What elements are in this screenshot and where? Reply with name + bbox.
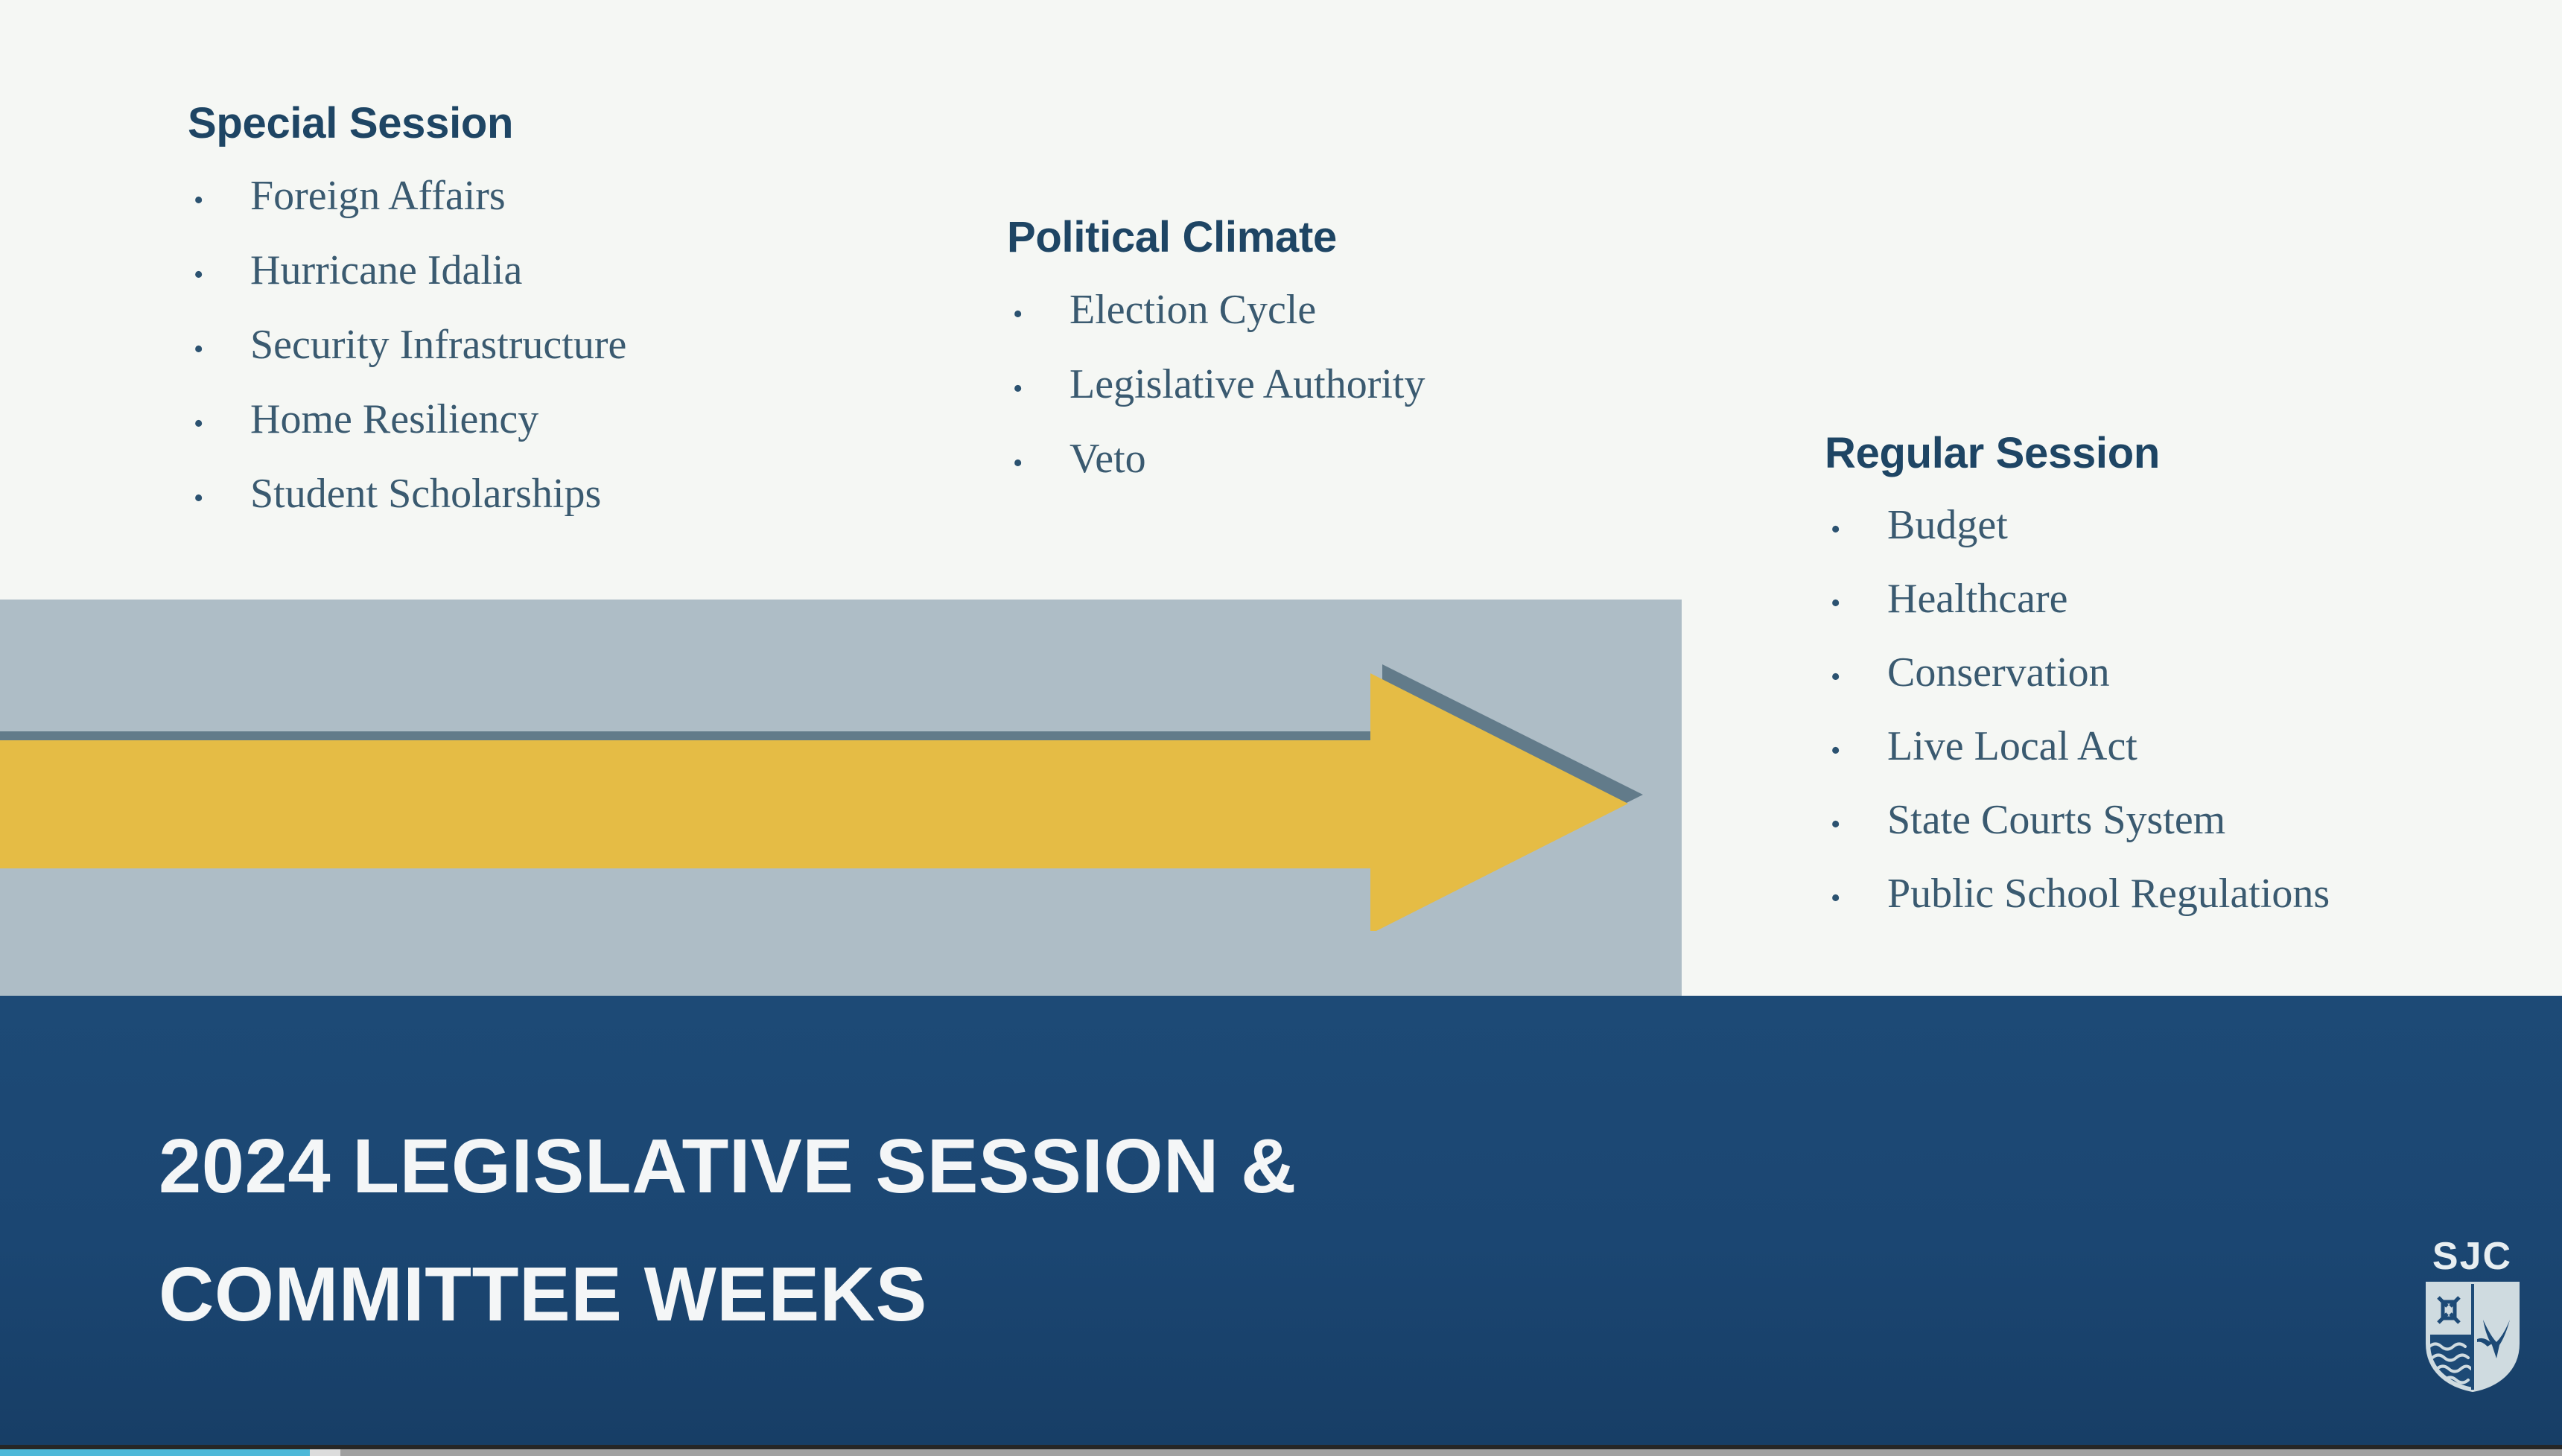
column-heading-regular-session: Regular Session — [1825, 428, 2330, 478]
list-item: • Home Resiliency — [188, 382, 626, 457]
list-item-label: Healthcare — [1887, 562, 2067, 636]
presentation-slide: Special Session • Foreign Affairs • Hurr… — [0, 0, 2562, 1456]
bullet-dot-icon: • — [1825, 737, 1887, 765]
column-political-climate: Political Climate • Election Cycle • Leg… — [1007, 212, 1425, 496]
list-item-label: Legislative Authority — [1069, 347, 1425, 422]
list-item: • Conservation — [1825, 636, 2330, 710]
list-item: • Budget — [1825, 489, 2330, 562]
list-item: • Election Cycle — [1007, 273, 1425, 347]
column-regular-session: Regular Session • Budget • Healthcare • … — [1825, 428, 2330, 931]
video-scrubber-track[interactable] — [0, 1449, 2562, 1456]
bullet-dot-icon: • — [1825, 663, 1887, 691]
column-heading-special-session: Special Session — [188, 98, 626, 148]
sjc-logo: SJC — [2407, 1236, 2537, 1396]
bullet-dot-icon: • — [1007, 300, 1069, 328]
bullet-list-regular-session: • Budget • Healthcare • Conservation • L… — [1825, 489, 2330, 931]
list-item-label: Home Resiliency — [250, 382, 538, 457]
list-item-label: Live Local Act — [1887, 710, 2137, 783]
list-item-label: Public School Regulations — [1887, 857, 2330, 931]
list-item-label: Conservation — [1887, 636, 2110, 710]
list-item: • Live Local Act — [1825, 710, 2330, 783]
column-special-session: Special Session • Foreign Affairs • Hurr… — [188, 98, 626, 531]
bullet-dot-icon: • — [1007, 449, 1069, 477]
list-item-label: Foreign Affairs — [250, 159, 506, 233]
list-item-label: Hurricane Idalia — [250, 233, 522, 308]
bullet-dot-icon: • — [188, 186, 250, 214]
sjc-monogram: SJC — [2407, 1236, 2537, 1277]
list-item-label: Veto — [1069, 422, 1146, 496]
list-item: • Public School Regulations — [1825, 857, 2330, 931]
list-item-label: Security Infrastructure — [250, 308, 626, 382]
bullet-dot-icon: • — [1825, 884, 1887, 912]
list-item: • Student Scholarships — [188, 457, 626, 531]
list-item-label: Student Scholarships — [250, 457, 601, 531]
list-item-label: Election Cycle — [1069, 273, 1316, 347]
right-arrow-icon — [0, 663, 1653, 931]
shield-crest-icon — [2425, 1281, 2520, 1393]
bullet-dot-icon: • — [188, 484, 250, 512]
column-heading-political-climate: Political Climate — [1007, 212, 1425, 262]
list-item: • Security Infrastructure — [188, 308, 626, 382]
list-item: • Foreign Affairs — [188, 159, 626, 233]
bullet-dot-icon: • — [1825, 810, 1887, 839]
bullet-list-political-climate: • Election Cycle • Legislative Authority… — [1007, 273, 1425, 496]
page-title-line-2: COMMITTEE WEEKS — [159, 1230, 2021, 1358]
bullet-dot-icon: • — [188, 261, 250, 289]
bullet-dot-icon: • — [1007, 375, 1069, 403]
list-item-label: Budget — [1887, 489, 2008, 562]
bullet-dot-icon: • — [1825, 515, 1887, 544]
list-item: • Hurricane Idalia — [188, 233, 626, 308]
video-scrubber-progress[interactable] — [0, 1449, 310, 1456]
page-title-line-1: 2024 LEGISLATIVE SESSION & — [159, 1102, 2021, 1230]
page-title: 2024 LEGISLATIVE SESSION & COMMITTEE WEE… — [159, 1102, 2021, 1358]
bullet-dot-icon: • — [1825, 589, 1887, 617]
bullet-dot-icon: • — [188, 335, 250, 363]
list-item: • Veto — [1007, 422, 1425, 496]
list-item: • State Courts System — [1825, 783, 2330, 857]
list-item: • Legislative Authority — [1007, 347, 1425, 422]
list-item-label: State Courts System — [1887, 783, 2225, 857]
list-item: • Healthcare — [1825, 562, 2330, 636]
bullet-list-special-session: • Foreign Affairs • Hurricane Idalia • S… — [188, 159, 626, 531]
bullet-dot-icon: • — [188, 410, 250, 438]
